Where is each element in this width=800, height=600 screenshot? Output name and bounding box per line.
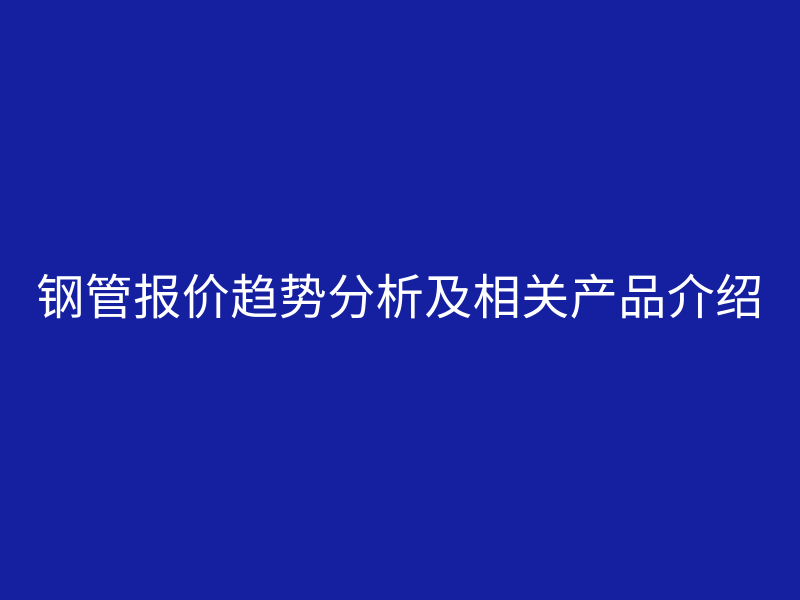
slide-title: 钢管报价趋势分析及相关产品介绍 <box>36 274 764 322</box>
slide-canvas: 钢管报价趋势分析及相关产品介绍 <box>0 0 800 600</box>
title-band: 钢管报价趋势分析及相关产品介绍 <box>0 262 800 334</box>
